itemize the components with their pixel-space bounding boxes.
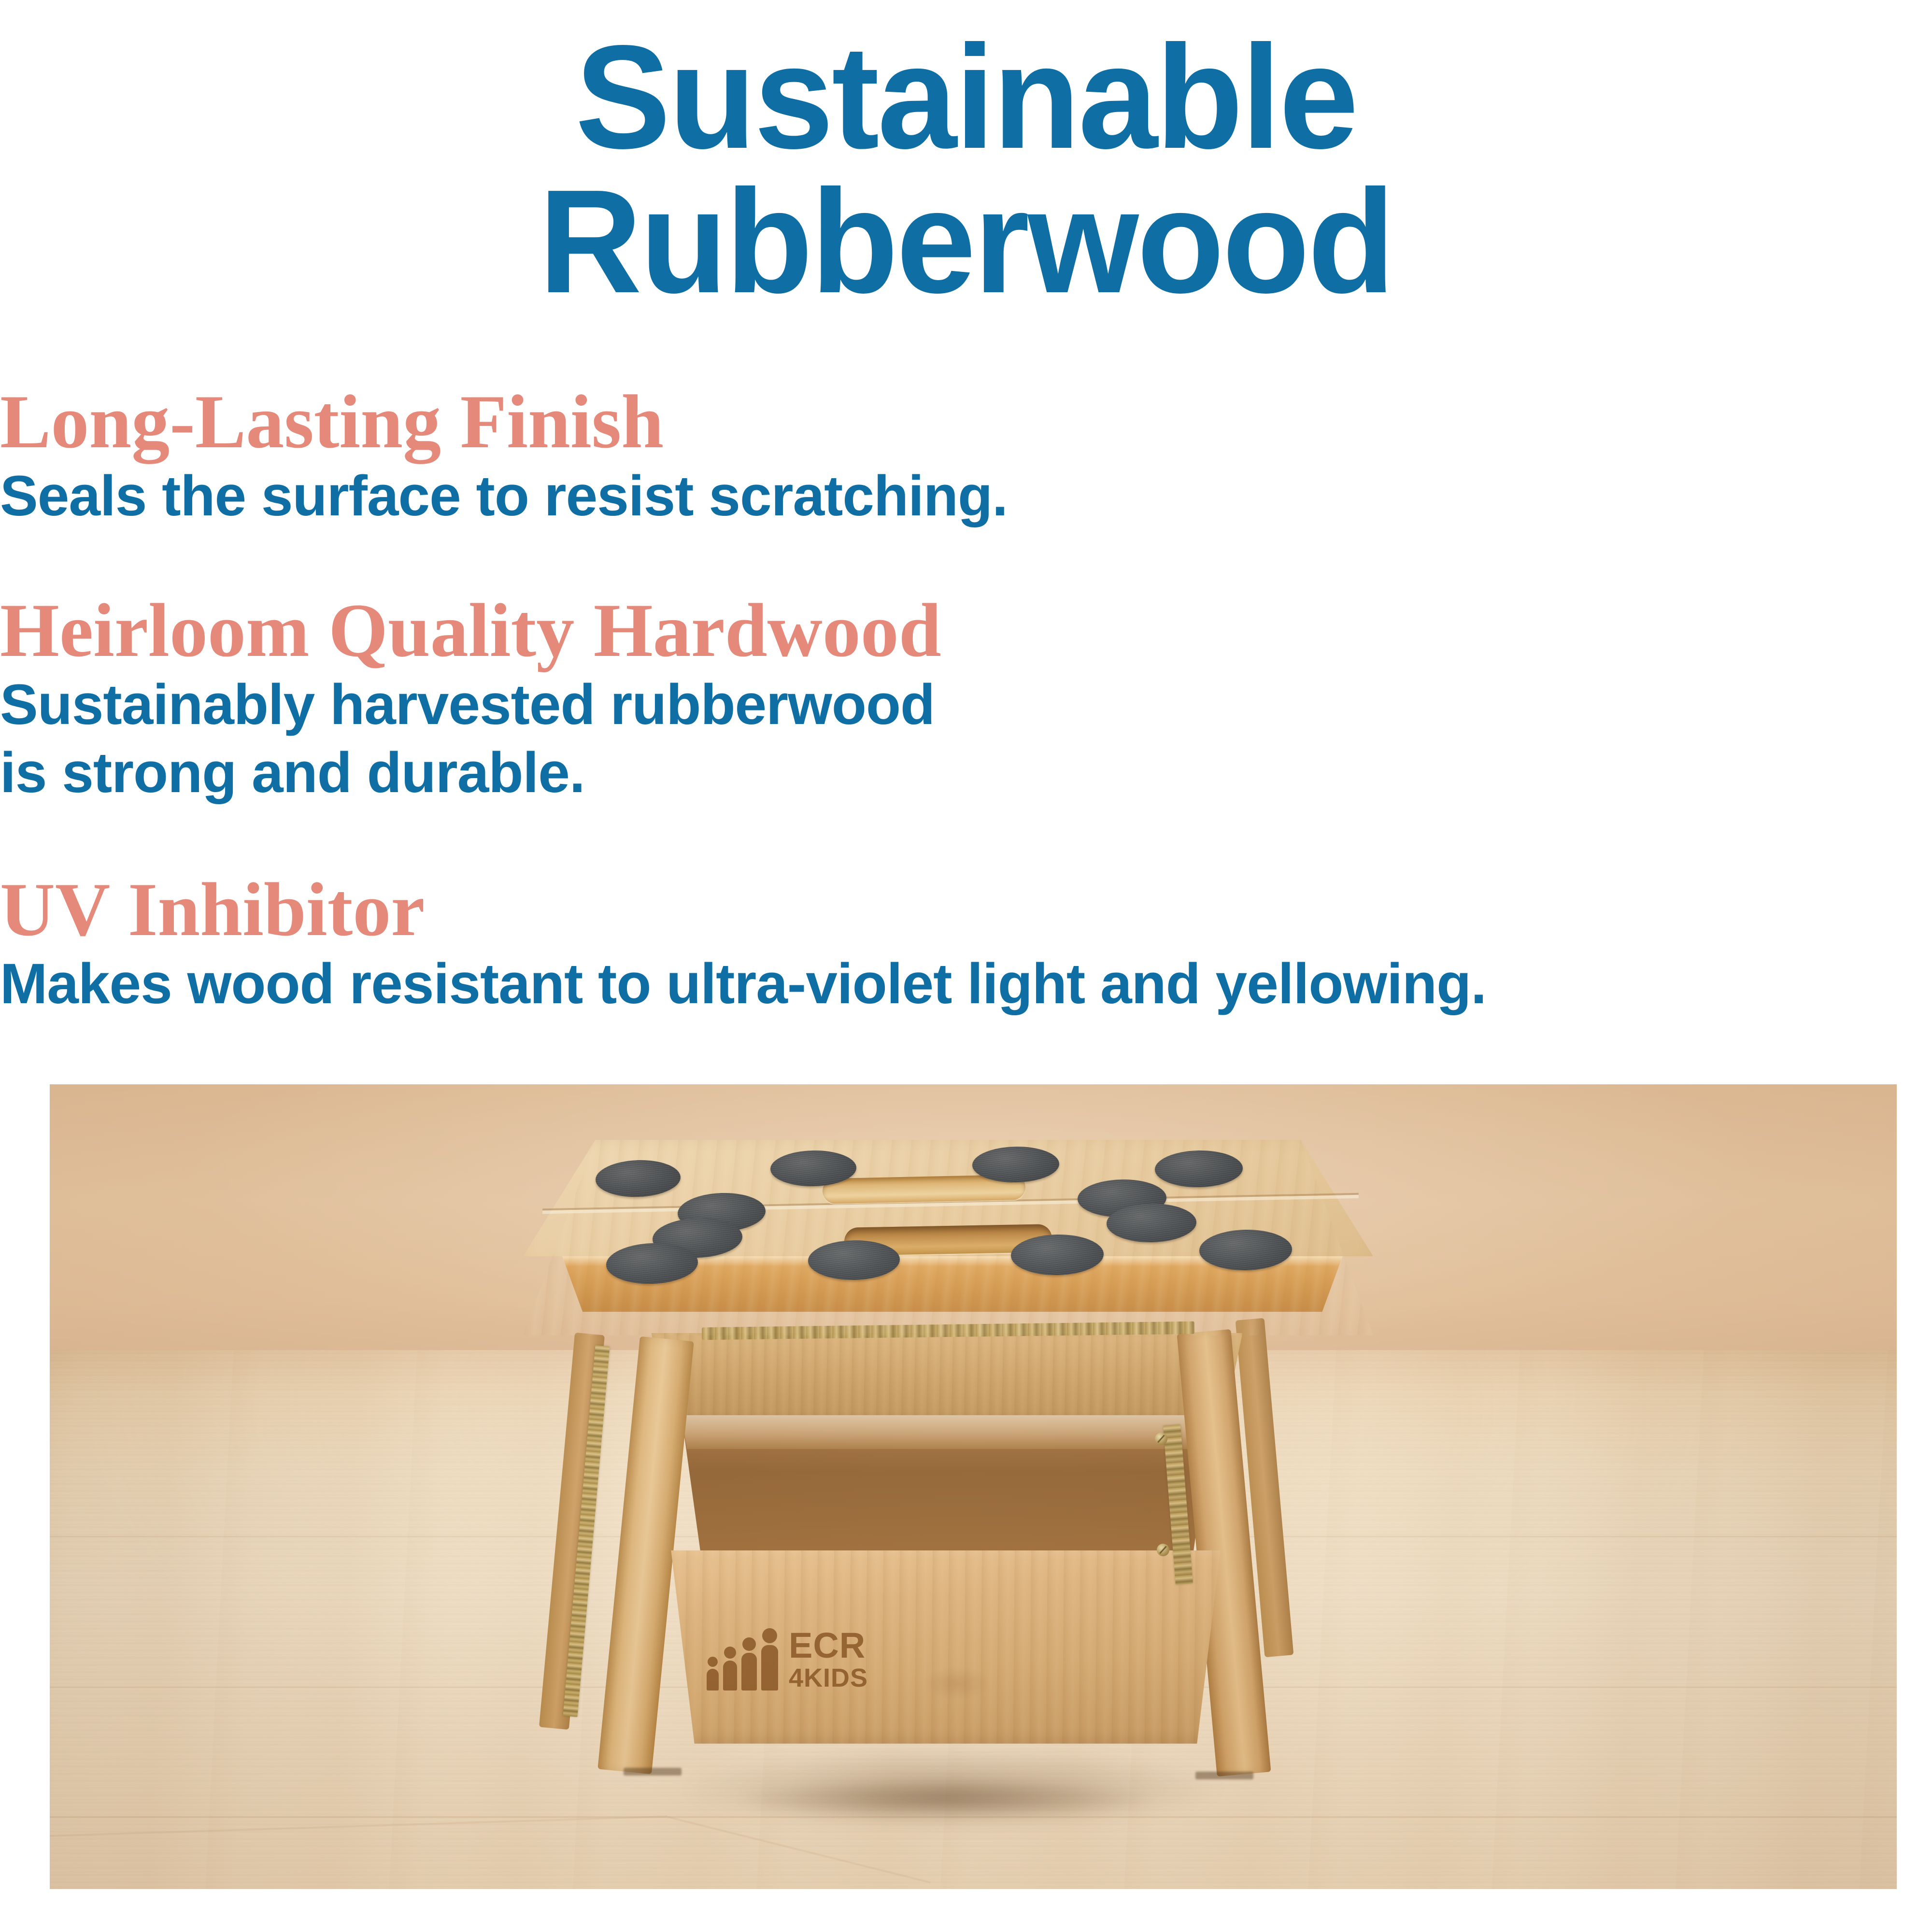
brand-figure-icon (707, 1657, 719, 1690)
stool-contact-shadow (653, 1770, 1233, 1828)
feature-long-lasting-finish: Long-Lasting Finish Seals the surface to… (0, 382, 1932, 530)
brand-figure-icon (741, 1637, 757, 1690)
brand-wordmark: ECR 4KIDS (789, 1629, 868, 1690)
brand-name: ECR (789, 1629, 868, 1662)
brand-figures-icon (707, 1638, 778, 1690)
poster-canvas: Sustainable Rubberwood Long-Lasting Fini… (0, 0, 1932, 1932)
page-title: Sustainable Rubberwood (29, 0, 1903, 314)
product-photo: ECR 4KIDS (50, 1084, 1897, 1889)
title-line-1: Sustainable (29, 25, 1903, 170)
feature-uv-inhibitor: UV Inhibitor Makes wood resistant to ult… (0, 869, 1932, 1018)
hinge-screw (1157, 1544, 1169, 1556)
stool-cavity-highlight (670, 1415, 1223, 1449)
title-line-2: Rubberwood (29, 170, 1903, 314)
brand-figure-icon (761, 1628, 778, 1690)
feature-heirloom-quality-hardwood: Heirloom Quality Hardwood Sustainably ha… (0, 590, 1932, 807)
step-stool: ECR 4KIDS (494, 1125, 1388, 1864)
feature-body-line: Seals the surface to resist scratching. (0, 462, 1932, 530)
feature-heading: UV Inhibitor (0, 869, 1932, 950)
brand-figure-icon (723, 1647, 737, 1690)
brand-logo: ECR 4KIDS (707, 1613, 914, 1690)
marketing-text-block: Sustainable Rubberwood (0, 0, 1932, 314)
brand-subname: 4KIDS (789, 1666, 868, 1690)
stool-seat (523, 1140, 1373, 1352)
stool-foot-shadow (624, 1768, 682, 1776)
feature-heading: Heirloom Quality Hardwood (0, 590, 1932, 671)
panel-wood-knot (923, 1666, 990, 1700)
hinge-screw (1155, 1433, 1167, 1445)
feature-body-line: Makes wood resistant to ultra-violet lig… (0, 950, 1932, 1018)
feature-heading: Long-Lasting Finish (0, 382, 1932, 462)
stool-foot-shadow (1195, 1772, 1253, 1779)
feature-body-line: is strong and durable. (0, 739, 1932, 807)
feature-body-line: Sustainably harvested rubberwood (0, 671, 1932, 739)
